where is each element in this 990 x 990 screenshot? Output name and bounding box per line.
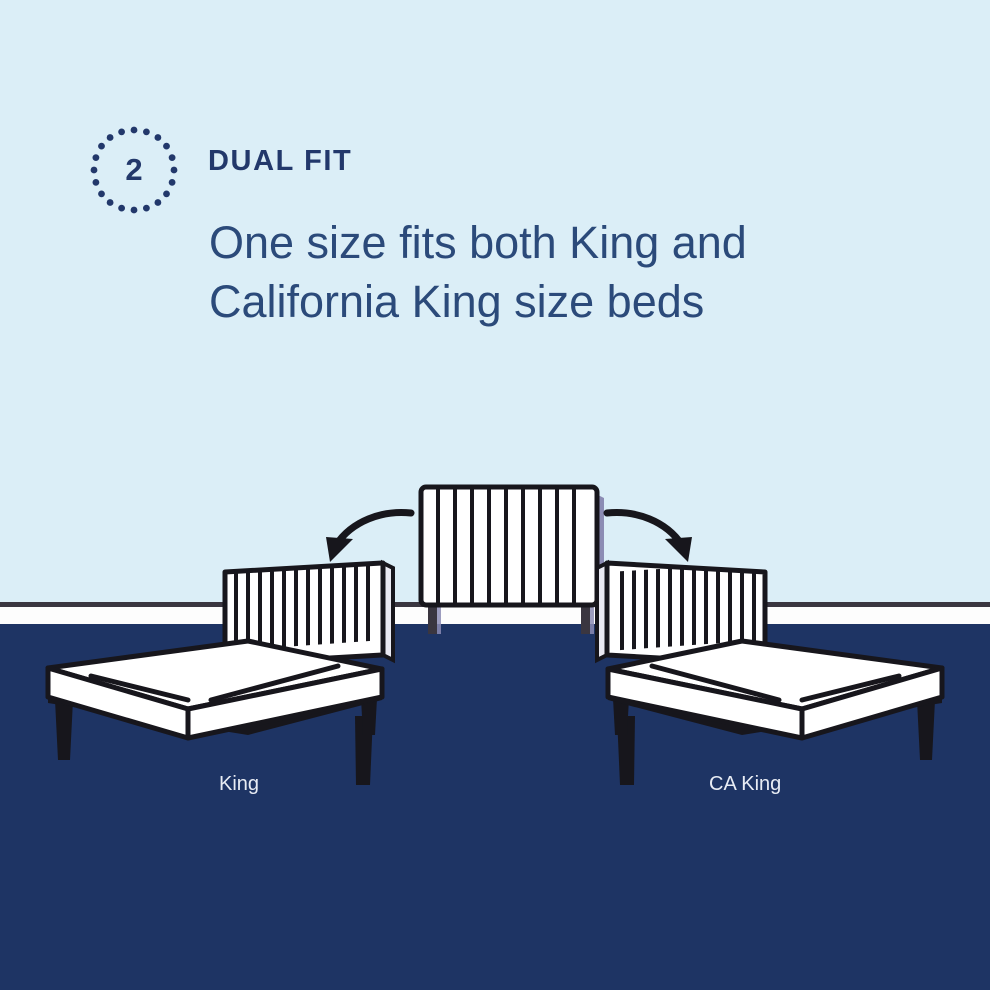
infographic-canvas: 2 DUAL FIT One size fits both King and C… [0,0,990,990]
bedroom-scene-illustration [0,0,990,990]
center-headboard-panel [421,487,597,605]
ca-king-leg-front-right [917,700,935,760]
king-leg-front-left [55,700,73,760]
baseboard-band [0,607,990,624]
